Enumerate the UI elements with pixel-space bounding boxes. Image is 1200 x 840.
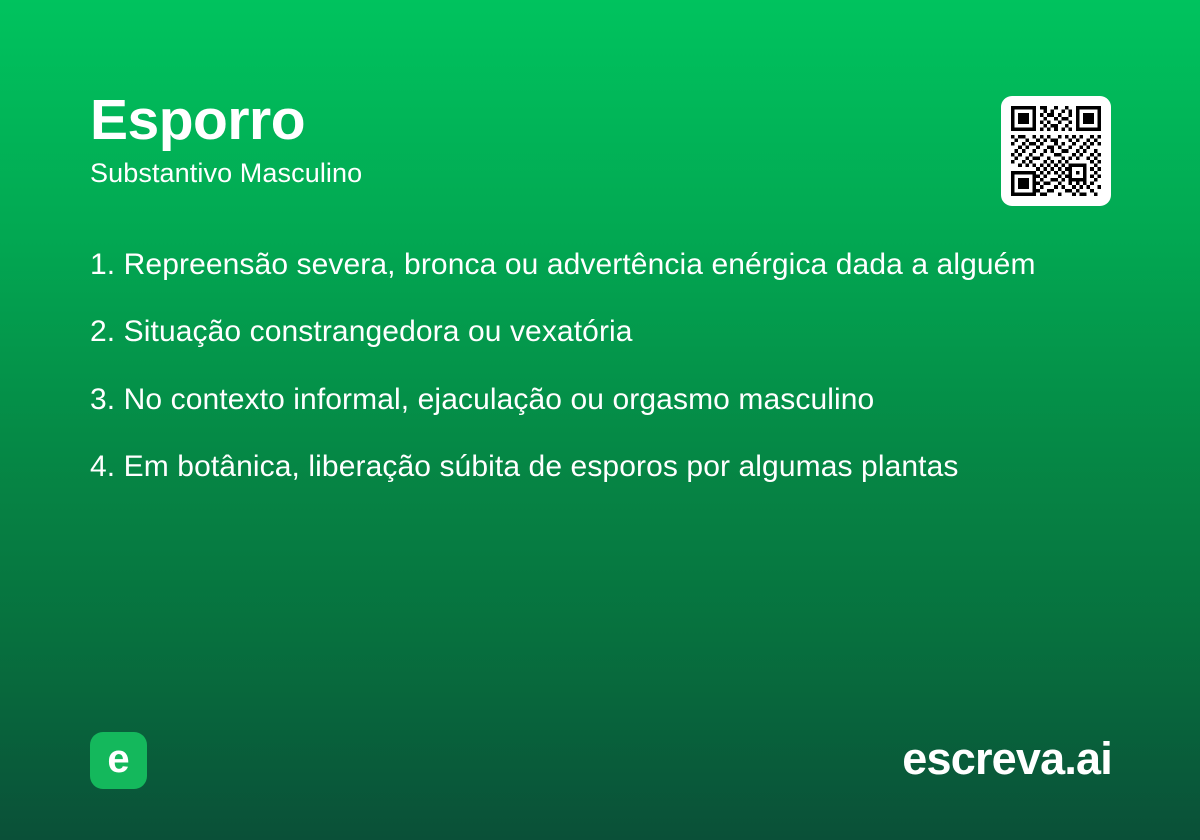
word-class-label: Substantivo Masculino [90, 159, 1030, 189]
definition-item: 4. Em botânica, liberação súbita de espo… [90, 448, 1120, 486]
card-header: Esporro Substantivo Masculino [90, 92, 1030, 189]
logo-letter: e [107, 739, 129, 779]
page-title: Esporro [90, 92, 1030, 149]
escreva-logo-icon: e [90, 732, 147, 789]
brand-wordmark: escreva.ai [902, 730, 1112, 789]
definition-list: 1. Repreensão severa, bronca ou advertên… [90, 246, 1120, 487]
definition-item: 1. Repreensão severa, bronca ou advertên… [90, 246, 1120, 284]
dictionary-card: { "card": { "title": "Esporro", "word_cl… [0, 0, 1200, 840]
qr-code-icon [1011, 106, 1101, 196]
qr-code[interactable] [1001, 96, 1111, 206]
card-footer: e escreva.ai [0, 710, 1200, 840]
definition-item: 2. Situação constrangedora ou vexatória [90, 313, 1120, 351]
definition-item: 3. No contexto informal, ejaculação ou o… [90, 381, 1120, 419]
